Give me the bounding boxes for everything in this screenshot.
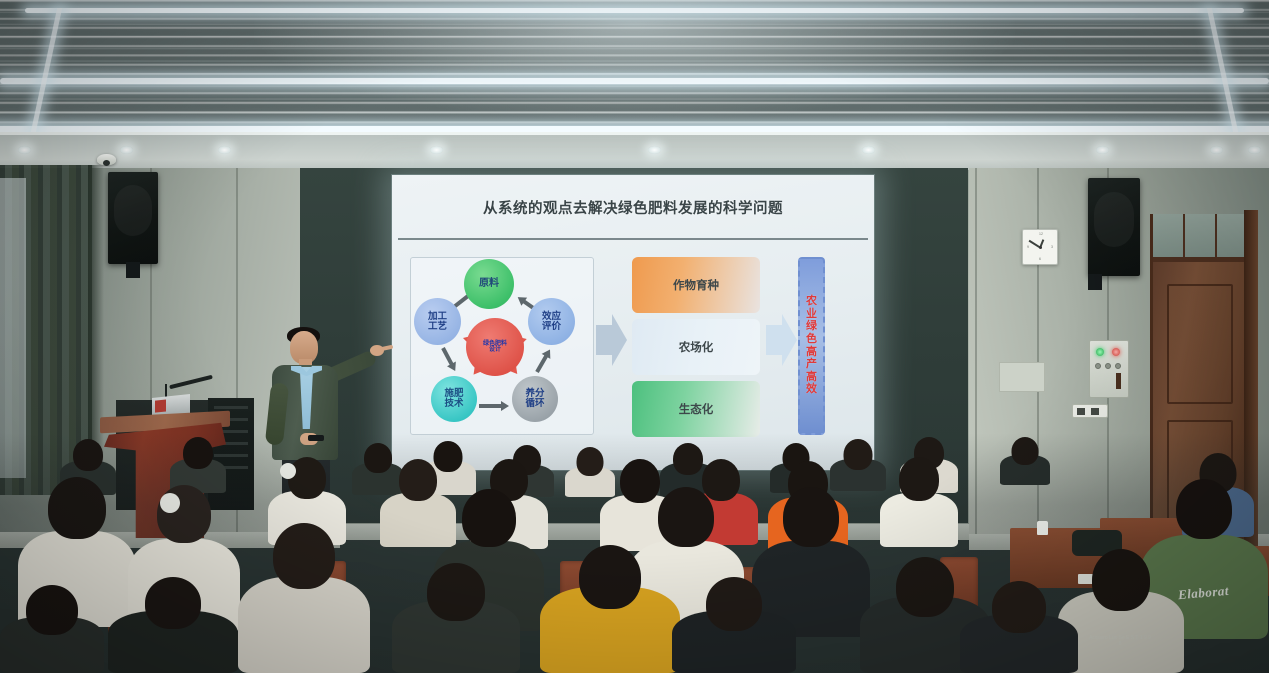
- diagram-cycle-group: 原料 加工 工艺 效应 评价 施肥 技术 养分 循环 绿色肥料 设计: [410, 257, 594, 435]
- light-strip-1: [25, 8, 1243, 13]
- box-ecological[interactable]: 生态化: [632, 381, 760, 437]
- person-head: [1012, 437, 1039, 465]
- person-head: [896, 557, 954, 617]
- panel-knob[interactable]: [1115, 363, 1121, 369]
- audience-member: [672, 577, 796, 673]
- downlight: [18, 146, 31, 154]
- ceiling-glow: [254, 0, 1015, 120]
- node-nutrient-line2: 循环: [525, 399, 544, 409]
- wall-plate: [999, 362, 1045, 392]
- status-led-red: [1112, 348, 1120, 356]
- arrow-nutrient-to-evaluation: [535, 354, 548, 373]
- arrow-processing-to-fertilization: [441, 347, 454, 367]
- hair-tie: [280, 463, 296, 479]
- person-head: [145, 577, 201, 629]
- node-raw-material[interactable]: 原料: [464, 259, 514, 309]
- downlight: [430, 146, 443, 154]
- left-speaker: [108, 172, 158, 264]
- banner-char: 农: [806, 296, 817, 308]
- person-head: [273, 523, 335, 589]
- node-effect-evaluation[interactable]: 效应 评价: [528, 298, 575, 345]
- person-head: [183, 437, 213, 469]
- status-led-green: [1096, 348, 1104, 356]
- projection-screen[interactable]: 从系统的观点去解决绿色肥料发展的科学问题 原料 加工 工艺: [392, 175, 874, 470]
- clock-tick-6: 6: [1039, 257, 1041, 261]
- person-head: [462, 489, 516, 547]
- node-evaluation-line2: 评价: [542, 322, 561, 332]
- person-head: [48, 477, 106, 539]
- audience-member: [540, 545, 680, 673]
- audience-member: [108, 577, 238, 673]
- person-head: [706, 577, 762, 631]
- node-fertilization-tech[interactable]: 施肥 技术: [431, 376, 477, 422]
- lecture-hall-scene: 从系统的观点去解决绿色肥料发展的科学问题 原料 加工 工艺: [0, 0, 1269, 673]
- downlight: [218, 146, 231, 154]
- banner-agriculture-green-high-yield[interactable]: 农 业 绿 色 高 产 高 效: [798, 257, 825, 435]
- audience-member: [960, 581, 1078, 673]
- clock-tick-3: 3: [1051, 245, 1053, 249]
- slide-title: 从系统的观点去解决绿色肥料发展的科学问题: [392, 197, 874, 218]
- right-speaker-bracket: [1088, 274, 1102, 290]
- audience-member: [392, 563, 520, 673]
- door-glass-panel: [1153, 214, 1249, 262]
- banner-char: 色: [806, 334, 817, 346]
- person-head: [579, 545, 641, 609]
- banner-char: 产: [806, 359, 817, 371]
- panel-slider[interactable]: [1116, 373, 1121, 389]
- downlight: [1210, 146, 1223, 154]
- box-crop-breeding[interactable]: 作物育种: [632, 257, 760, 313]
- right-speaker: [1088, 178, 1140, 276]
- wall-clock: 12 3 6 9: [1022, 229, 1058, 265]
- person-head: [26, 585, 78, 635]
- chevron-arrow-2-icon: [766, 314, 796, 366]
- person-body-white-puffer: [238, 577, 370, 673]
- box-crop-breeding-label: 作物育种: [673, 277, 719, 293]
- person-head: [1176, 479, 1232, 539]
- light-switch-panel[interactable]: [1072, 404, 1108, 418]
- paper-cup: [1037, 521, 1048, 535]
- downlight: [1096, 146, 1109, 154]
- arrow-fertilization-to-nutrient: [479, 404, 503, 408]
- left-speaker-bracket: [126, 262, 140, 278]
- person-head: [427, 563, 485, 621]
- banner-char: 高: [806, 372, 817, 384]
- audience-member: [1000, 437, 1050, 485]
- node-green-fertilizer-design[interactable]: 绿色肥料 设计: [466, 318, 524, 376]
- person-body: [880, 493, 958, 547]
- node-fertilization-line2: 技术: [444, 399, 463, 409]
- door-panel-upper: [1167, 284, 1233, 404]
- node-center-line2: 设计: [489, 347, 501, 353]
- box-ecological-label: 生态化: [679, 401, 714, 417]
- node-raw-material-label: 原料: [479, 279, 499, 289]
- hair-tie: [160, 493, 180, 513]
- ceiling-camera-icon: [97, 154, 116, 165]
- person-head: [992, 581, 1046, 633]
- clock-tick-12: 12: [1039, 232, 1043, 236]
- banner-char: 绿: [806, 321, 817, 333]
- audience-member: [0, 585, 104, 673]
- light-switch[interactable]: [1091, 408, 1099, 415]
- downlight: [1248, 146, 1261, 154]
- wall-control-panel[interactable]: [1089, 340, 1129, 398]
- person-head: [1092, 549, 1150, 611]
- audience-member: [880, 457, 958, 547]
- hoodie-subtext: Acquaro Lux Se E S T 1 9 9 8: [1088, 635, 1152, 648]
- downlight: [120, 146, 133, 154]
- banner-char: 效: [806, 384, 817, 396]
- banner-char: 高: [806, 347, 817, 359]
- banner-char: 业: [806, 309, 817, 321]
- light-switch[interactable]: [1077, 408, 1085, 415]
- person-head: [899, 457, 939, 501]
- person-head: [783, 487, 839, 547]
- person-head: [658, 487, 714, 547]
- downlight: [648, 146, 661, 154]
- downlight: [862, 146, 875, 154]
- box-farm-scale-label: 农场化: [679, 339, 714, 355]
- audience-member: [238, 523, 370, 673]
- diagram-stack-group: 作物育种 农场化 生态化: [632, 257, 760, 435]
- panel-knob[interactable]: [1095, 363, 1101, 369]
- box-farm-scale[interactable]: 农场化: [632, 319, 760, 375]
- node-processing-line2: 工艺: [428, 322, 447, 332]
- node-processing-tech[interactable]: 加工 工艺: [414, 298, 461, 345]
- title-divider: [398, 238, 868, 240]
- person-head: [73, 439, 103, 471]
- clock-center-pin: [1039, 246, 1042, 249]
- person-head: [399, 459, 437, 501]
- light-strip-2: [0, 78, 1269, 84]
- node-nutrient-cycling[interactable]: 养分 循环: [512, 376, 558, 422]
- person-head: [288, 457, 326, 499]
- clock-tick-9: 9: [1027, 245, 1029, 249]
- panel-knob[interactable]: [1105, 363, 1111, 369]
- chevron-arrow-1-icon: [596, 314, 626, 366]
